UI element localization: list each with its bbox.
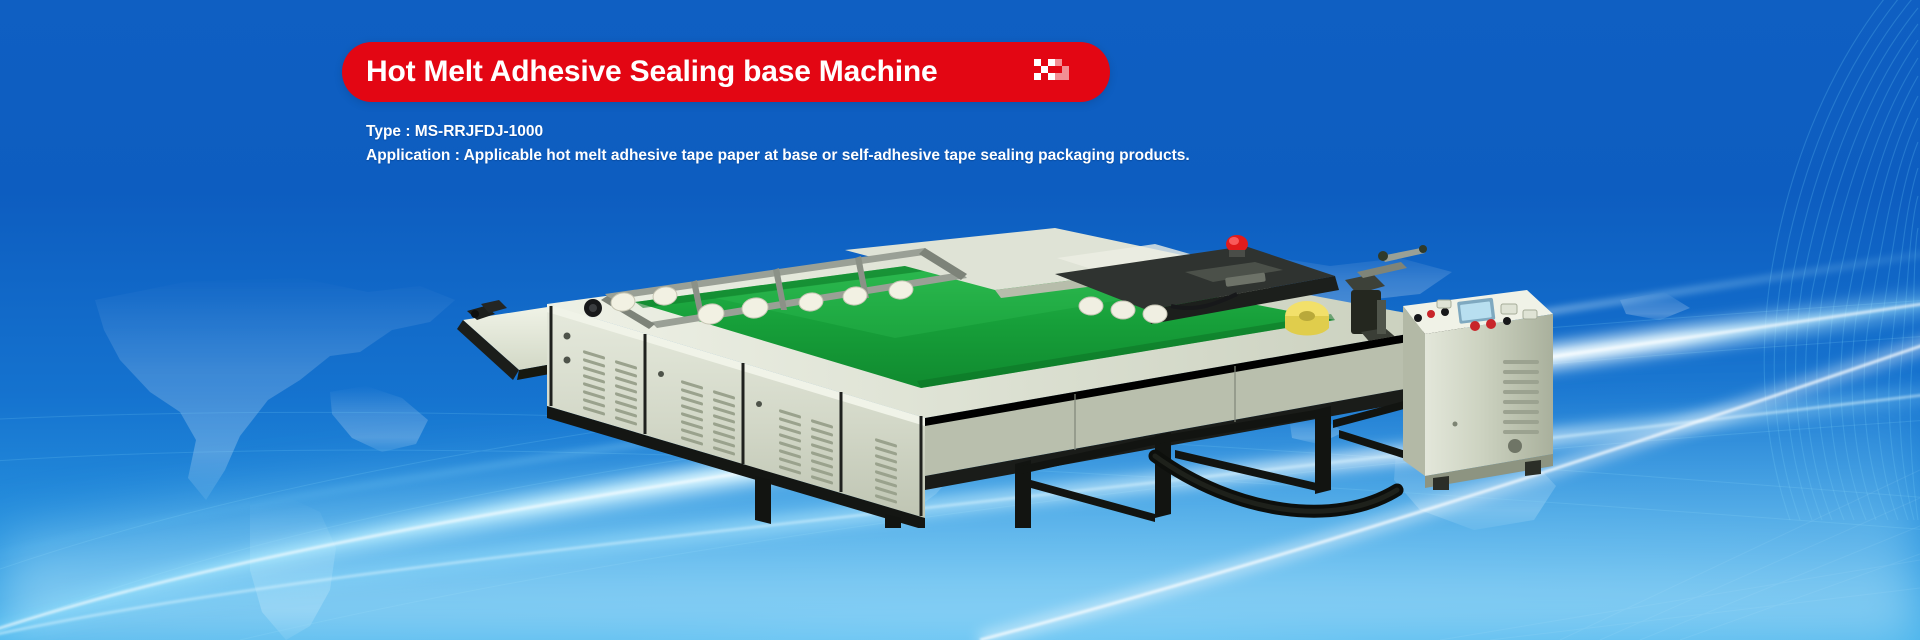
- control-cabinet: [1403, 290, 1553, 490]
- page-title: Hot Melt Adhesive Sealing base Machine: [366, 57, 1026, 87]
- specification-block: Type : MS-RRJFDJ-1000 Application : Appl…: [366, 120, 1202, 167]
- spec-application: Application : Applicable hot melt adhesi…: [366, 144, 1202, 167]
- spec-type: Type : MS-RRJFDJ-1000: [366, 120, 1202, 143]
- power-cable: [1155, 456, 1397, 511]
- title-pill: Hot Melt Adhesive Sealing base Machine: [342, 42, 1110, 102]
- tape-reel: [1285, 301, 1329, 336]
- product-banner: Hot Melt Adhesive Sealing base Machine T…: [0, 0, 1920, 640]
- double-chevron-right-icon: [1032, 57, 1076, 87]
- product-image: [455, 228, 1560, 528]
